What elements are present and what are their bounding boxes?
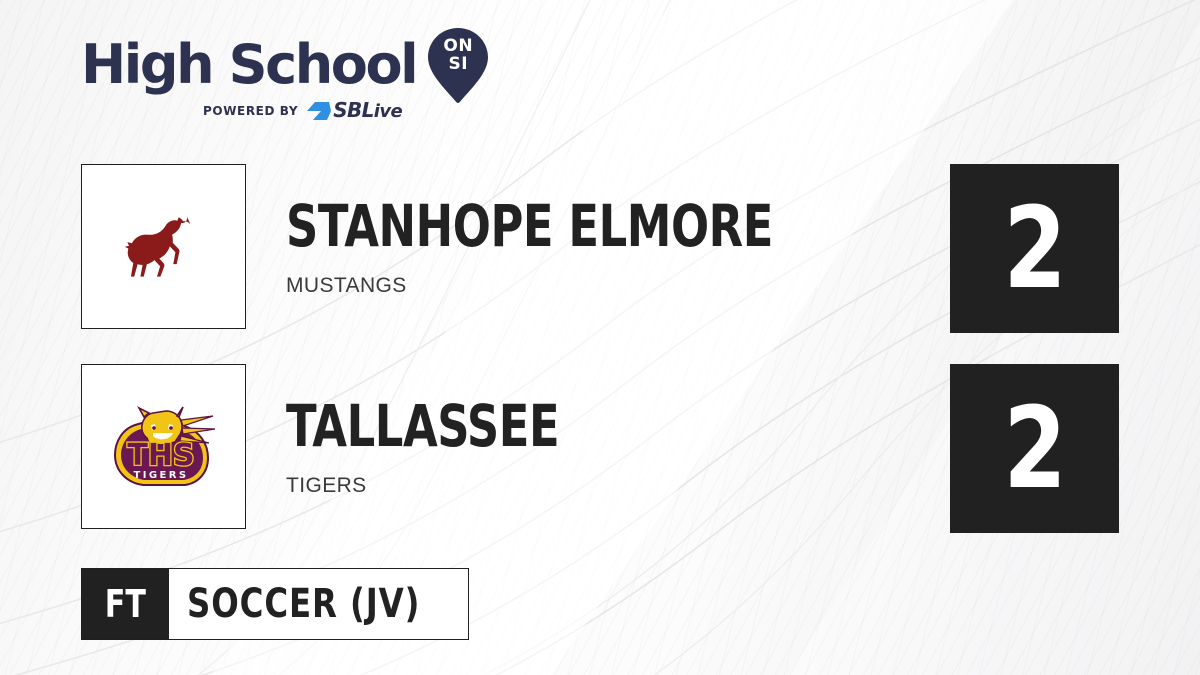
team-score: 2 [1003, 393, 1065, 505]
mustang-horse-icon [116, 199, 212, 295]
scoreboard-graphic: High School ON SI POWERED BY SBLive [0, 0, 1200, 675]
svg-text:THS: THS [127, 438, 194, 473]
svg-text:TIGERS: TIGERS [133, 470, 188, 481]
pin-label-on: ON [426, 38, 490, 55]
sblive-wordmark-main: SBL [333, 98, 374, 122]
sblive-wordmark-suffix: ive [374, 101, 402, 122]
team-name: STANHOPE ELMORE [286, 197, 773, 255]
sblive-logo: SBLive [307, 100, 402, 122]
team-mascot: TIGERS [286, 475, 604, 496]
status-sport-label: SOCCER (JV) [187, 584, 420, 624]
brand-lockup: High School ON SI POWERED BY SBLive [81, 32, 511, 132]
powered-by-label: POWERED BY [203, 104, 298, 118]
team-row: STANHOPE ELMORE MUSTANGS 2 [0, 164, 1200, 332]
team-mascot: MUSTANGS [286, 275, 852, 296]
team-score-box: 2 [950, 164, 1119, 333]
brand-wordmark-row: High School ON SI [81, 32, 511, 98]
on-si-pin-text: ON SI [426, 38, 490, 73]
status-sport-panel: SOCCER (JV) [169, 569, 468, 639]
brand-wordmark: High School [81, 36, 416, 94]
status-state-flag: FT [82, 569, 169, 639]
team-info: TALLASSEE TIGERS [286, 364, 604, 529]
team-score: 2 [1003, 193, 1065, 305]
team-row: THS TIGERS TALLASSEE TIGERS 2 [0, 364, 1200, 532]
team-info: STANHOPE ELMORE MUSTANGS [286, 164, 852, 329]
game-status-bar: FT SOCCER (JV) [81, 568, 469, 640]
sblive-wordmark: SBLive [333, 100, 402, 122]
ths-tigers-icon: THS TIGERS [109, 399, 219, 495]
status-state-label: FT [105, 585, 146, 623]
sblive-chevron-icon [307, 101, 331, 121]
on-si-pin-icon: ON SI [426, 26, 490, 104]
pin-label-si: SI [426, 56, 490, 73]
team-score-box: 2 [950, 364, 1119, 533]
team-logo-box [81, 164, 246, 329]
team-name: TALLASSEE [286, 397, 559, 455]
team-logo-box: THS TIGERS [81, 364, 246, 529]
